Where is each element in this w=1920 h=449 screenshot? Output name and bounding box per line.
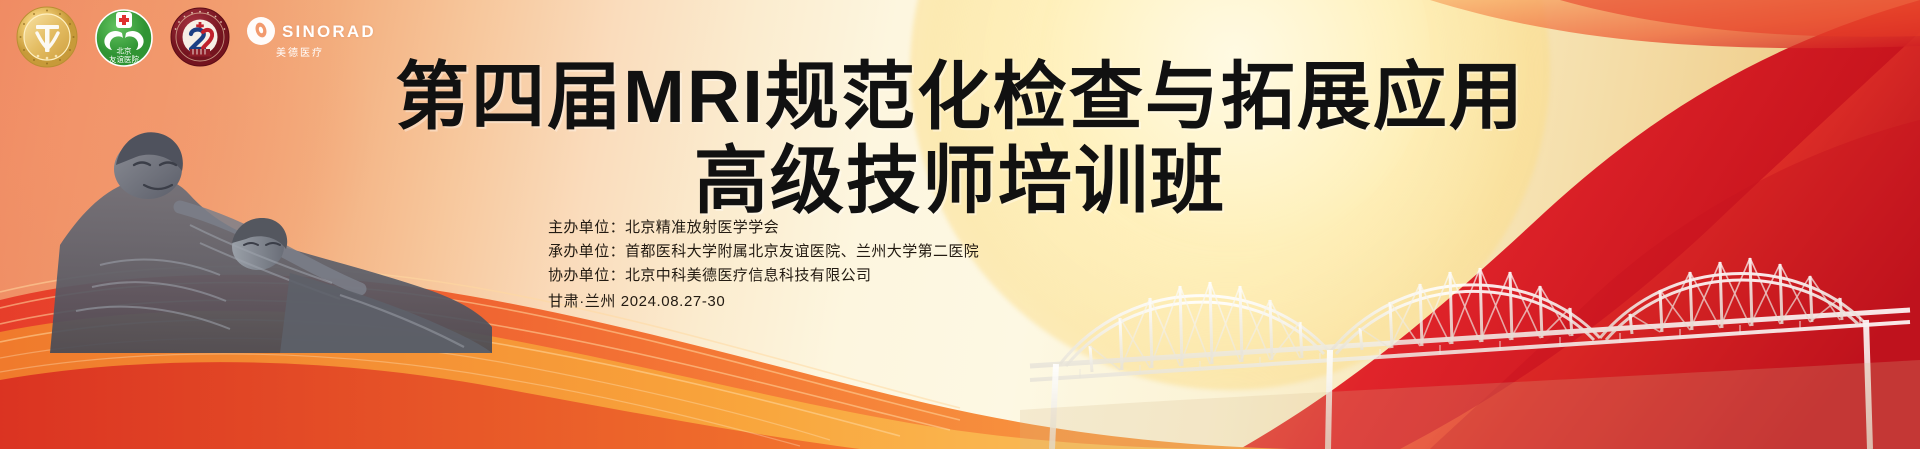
sinorad-wordmark: SINORAD [282, 23, 376, 40]
info-line-host: 主办单位：北京精准放射医学学会 [548, 216, 979, 240]
zhongshan-bridge-illustration [1020, 170, 1920, 449]
beijing-friendship-hospital-logo: 北京 友谊医院 [94, 7, 154, 67]
info-line-coorganizer: 协办单位：北京中科美德医疗信息科技有限公司 [548, 264, 979, 288]
info-line-organizer: 承办单位：首都医科大学附属北京友谊医院、兰州大学第二医院 [548, 240, 979, 264]
logo-row: 北京 友谊医院 [16, 6, 376, 68]
gold-medal-logo [16, 6, 78, 68]
maroon-seal-logo [170, 7, 230, 67]
mogao-buddha-illustration [40, 95, 500, 355]
sinorad-mark-icon [246, 16, 276, 48]
conference-banner: 北京 友谊医院 [0, 0, 1920, 449]
sinorad-chinese-name: 美德医疗 [276, 49, 324, 59]
organizer-info: 主办单位：北京精准放射医学学会 承办单位：首都医科大学附属北京友谊医院、兰州大学… [548, 216, 979, 314]
svg-text:北京: 北京 [117, 46, 132, 56]
svg-text:友谊医院: 友谊医院 [109, 54, 139, 64]
sinorad-logo: SINORAD 美德医疗 [246, 16, 376, 59]
info-line-date-location: 甘肃·兰州 2024.08.27-30 [548, 290, 979, 314]
